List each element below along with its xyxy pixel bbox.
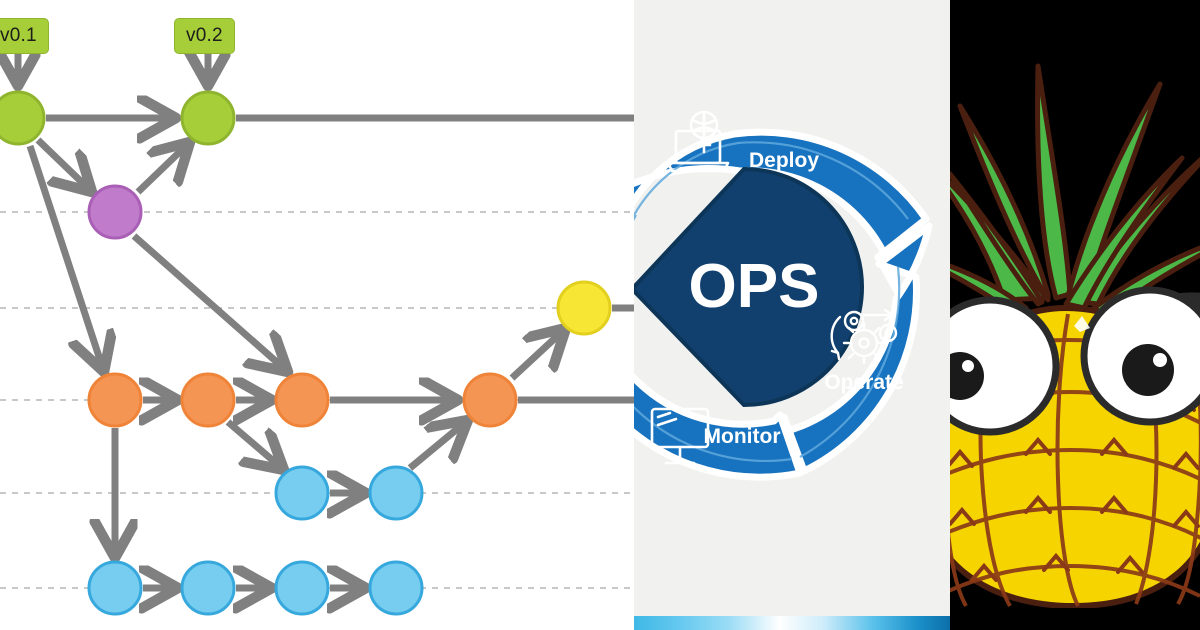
git-nodes xyxy=(0,92,610,614)
deploy-label: Deploy xyxy=(749,149,819,172)
edge-p1-o3 xyxy=(134,236,288,372)
commit-node-blue-3[interactable] xyxy=(89,562,141,614)
commit-node-green-2[interactable] xyxy=(182,92,234,144)
version-tag-v01[interactable]: v0.1 xyxy=(0,18,49,54)
commit-node-green-1[interactable] xyxy=(0,92,44,144)
pineapple-eye-right xyxy=(1084,290,1200,422)
composite-image: v0.1 v0.2 xyxy=(0,0,1200,630)
commit-node-yellow-1[interactable] xyxy=(558,282,610,334)
edge-o4-y1 xyxy=(512,328,566,378)
commit-node-blue-4[interactable] xyxy=(182,562,234,614)
edge-o2-b1 xyxy=(228,422,284,470)
commit-node-orange-2[interactable] xyxy=(182,374,234,426)
devops-ops-wheel-panel: OPS Deploy xyxy=(634,0,950,630)
commit-node-orange-4[interactable] xyxy=(464,374,516,426)
commit-node-orange-1[interactable] xyxy=(89,374,141,426)
commit-node-orange-3[interactable] xyxy=(276,374,328,426)
pineapple-svg xyxy=(950,8,1200,608)
edge-b2-o4 xyxy=(410,420,468,468)
pineapple-leaves-icon xyxy=(950,66,1200,320)
edge-p1-g2 xyxy=(138,142,190,192)
monitor-label: Monitor xyxy=(704,425,781,448)
git-graph-svg xyxy=(0,0,634,630)
commit-node-purple-1[interactable] xyxy=(89,186,141,238)
commit-node-blue-1[interactable] xyxy=(276,467,328,519)
commit-node-blue-6[interactable] xyxy=(370,562,422,614)
version-tag-v02[interactable]: v0.2 xyxy=(174,18,235,54)
pineapple-eye-left xyxy=(950,300,1056,432)
operate-label: Operate xyxy=(824,371,903,394)
commit-node-blue-5[interactable] xyxy=(276,562,328,614)
ops-core-label: OPS xyxy=(689,252,820,321)
edge-g1-o1 xyxy=(30,146,104,372)
bottom-gradient-strip xyxy=(634,616,950,630)
commit-node-blue-2[interactable] xyxy=(370,467,422,519)
git-branch-diagram-panel: v0.1 v0.2 xyxy=(0,0,634,630)
ops-wheel-svg: OPS Deploy xyxy=(634,55,950,515)
git-edge-stubs xyxy=(236,118,634,400)
pineapple-mascot-panel xyxy=(950,0,1200,630)
